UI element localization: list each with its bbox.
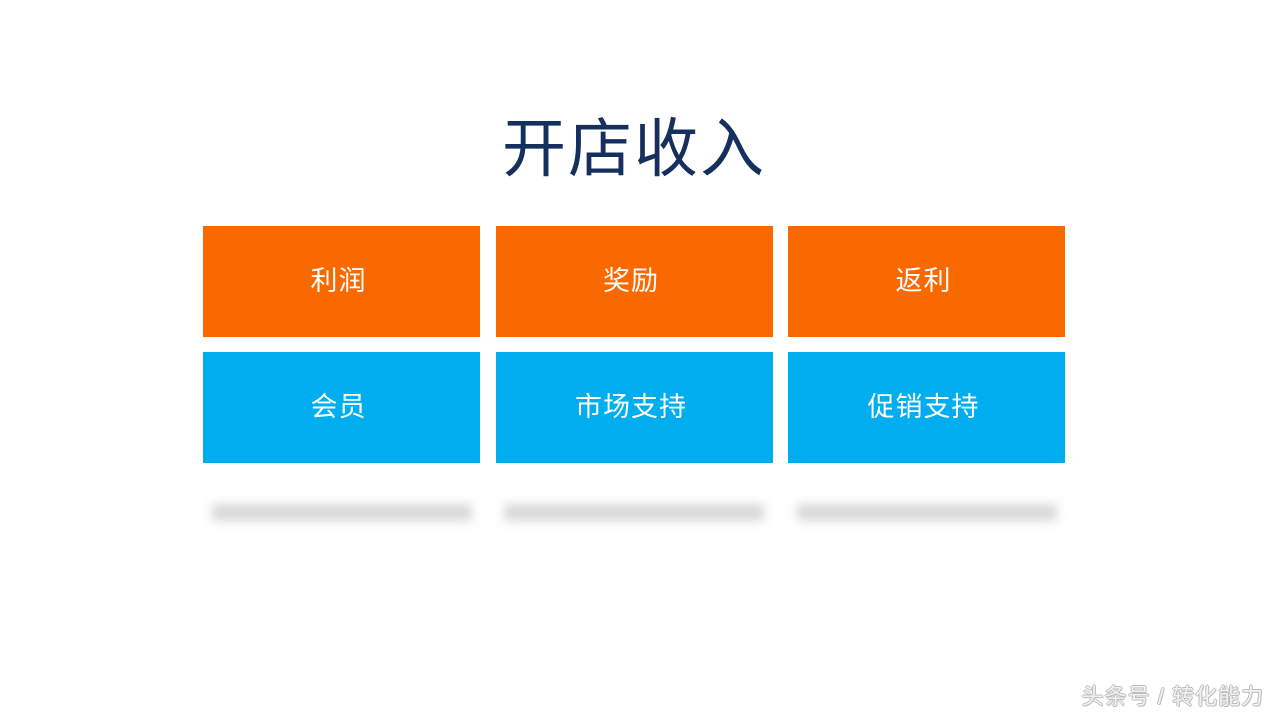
card-membership[interactable]: 会员 (203, 352, 480, 463)
card-row-orange: 利润 奖励 返利 (203, 226, 1065, 337)
card-label: 市场支持 (575, 394, 687, 421)
redacted-caption-bar (212, 504, 472, 521)
slide-canvas: 开店收入 利润 奖励 返利 会员 市场支持 促销支持 (0, 0, 1280, 720)
watermark: 头条号 / 转化能力 (1082, 683, 1264, 712)
caption-slot (788, 497, 1065, 527)
card-label: 会员 (311, 394, 367, 421)
card-label: 利润 (311, 268, 367, 295)
card-label: 返利 (896, 268, 952, 295)
card-market-support[interactable]: 市场支持 (496, 352, 773, 463)
caption-slot (496, 497, 773, 527)
redacted-caption-bar (504, 504, 764, 521)
card-profit[interactable]: 利润 (203, 226, 480, 337)
card-label: 促销支持 (868, 394, 980, 421)
card-rebate[interactable]: 返利 (788, 226, 1065, 337)
card-reward[interactable]: 奖励 (496, 226, 773, 337)
page-title: 开店收入 (0, 113, 1268, 187)
caption-slot (203, 497, 480, 527)
caption-bar-row (203, 497, 1065, 527)
redacted-caption-bar (797, 504, 1057, 521)
card-row-blue: 会员 市场支持 促销支持 (203, 352, 1065, 463)
card-label: 奖励 (603, 268, 659, 295)
card-promotion-support[interactable]: 促销支持 (788, 352, 1065, 463)
income-card-grid: 利润 奖励 返利 会员 市场支持 促销支持 (203, 226, 1065, 463)
